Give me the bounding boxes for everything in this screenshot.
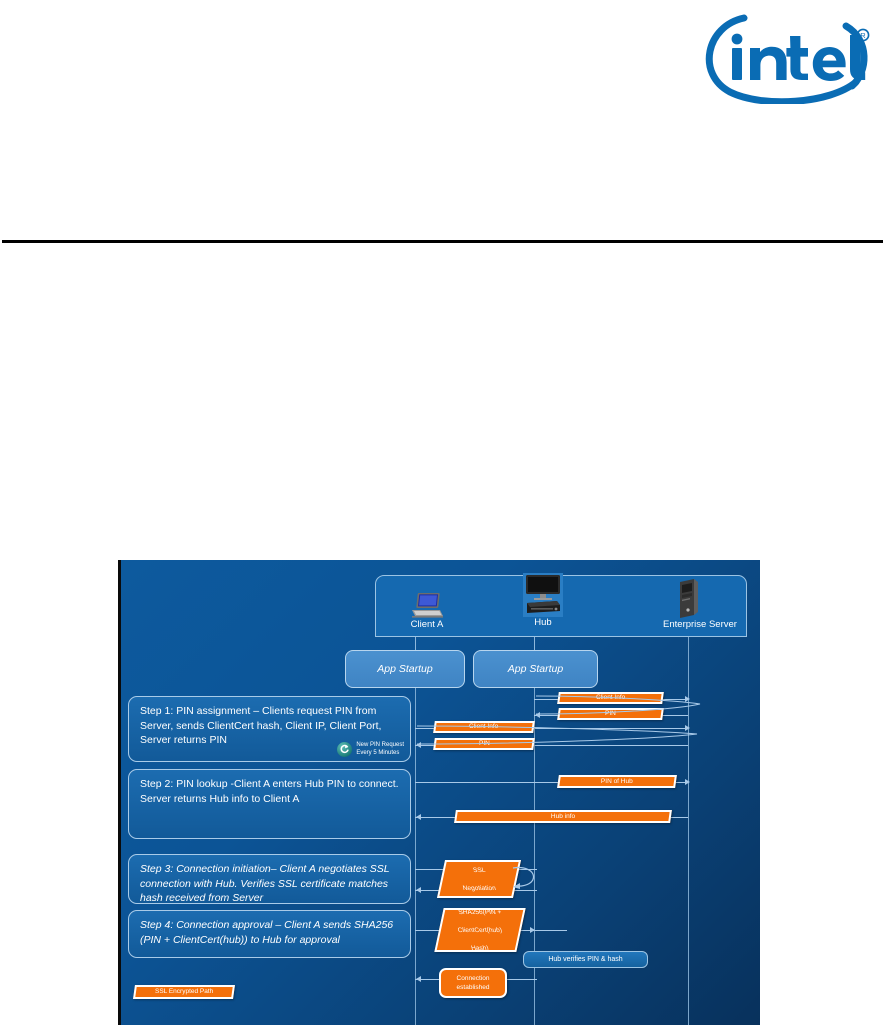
ssl-line-2: Negotiation — [462, 884, 497, 893]
badge-line-1: New PIN Request — [356, 742, 404, 748]
header-divider — [2, 240, 883, 243]
app-startup-hub[interactable]: App Startup — [473, 650, 598, 688]
step-2-description: Step 2: PIN lookup -Client A enters Hub … — [128, 769, 411, 839]
actor-label: Client A — [379, 619, 475, 631]
step-3-description: Step 3: Connection initiation– Client A … — [128, 854, 411, 904]
monitor-and-box-icon — [495, 577, 591, 617]
arrowhead-right — [530, 927, 535, 933]
conn-line-1: Connection — [457, 975, 490, 982]
actor-hub: Hub — [495, 577, 591, 629]
hub-verify-note: Hub verifies PIN & hash — [523, 951, 648, 968]
intel-logo: R — [700, 12, 872, 104]
arrowhead-left — [416, 976, 421, 982]
sha256-message[interactable]: SHA256(PIN + ClientCert(hub) Hash) — [434, 908, 525, 952]
app-startup-client[interactable]: App Startup — [345, 650, 465, 688]
step-2-text-2: Server returns Hub info to Client A — [140, 793, 299, 805]
server-tower-icon — [641, 579, 737, 619]
sha-line-2: ClientCert(hub) — [457, 926, 503, 935]
message-pair-outline-client — [415, 718, 700, 752]
connection-established-message[interactable]: Connection established — [439, 968, 507, 998]
arrowhead-left — [416, 887, 421, 893]
step-2-text: Step 2: PIN lookup -Client A enters Hub … — [140, 778, 399, 790]
actor-label: Hub — [495, 617, 591, 629]
arrowhead-right — [685, 779, 690, 785]
step-1-description: Step 1: PIN assignment – Clients request… — [128, 696, 411, 762]
sequence-diagram: Client A Hub — [118, 560, 760, 1025]
conn-line-2: established — [457, 984, 490, 991]
legend-ssl-encrypted-path: SSL Encrypted Path — [133, 985, 235, 999]
badge-line-2: Every 5 Minutes — [356, 750, 399, 756]
step-4-description: Step 4: Connection approval – Client A s… — [128, 910, 411, 958]
step-1-text: Step 1: PIN assignment – Clients request… — [140, 705, 381, 746]
ssl-line-1: SSL — [462, 866, 497, 875]
actor-label: Enterprise Server — [663, 619, 737, 631]
startup-stem-client — [415, 637, 416, 650]
new-pin-request-badge: New PIN Request Every 5 Minutes — [337, 742, 404, 757]
refresh-icon — [337, 742, 352, 757]
message-pin-of-hub[interactable]: PIN of Hub — [557, 775, 677, 788]
arrowhead-left — [416, 814, 421, 820]
laptop-icon — [379, 579, 475, 619]
actor-enterprise-server: Enterprise Server — [641, 579, 737, 631]
sha-line-1: SHA256(PIN + — [457, 908, 503, 917]
lifeline-client-a — [415, 637, 416, 1025]
actor-client-a: Client A — [379, 579, 475, 631]
startup-stem-hub — [534, 637, 535, 650]
ssl-self-loop-arc — [509, 860, 545, 896]
message-pair-outline-hub — [534, 688, 704, 722]
sha-line-3: Hash) — [457, 944, 503, 953]
svg-text:R: R — [860, 31, 866, 40]
message-hub-info[interactable]: Hub info — [454, 810, 672, 823]
